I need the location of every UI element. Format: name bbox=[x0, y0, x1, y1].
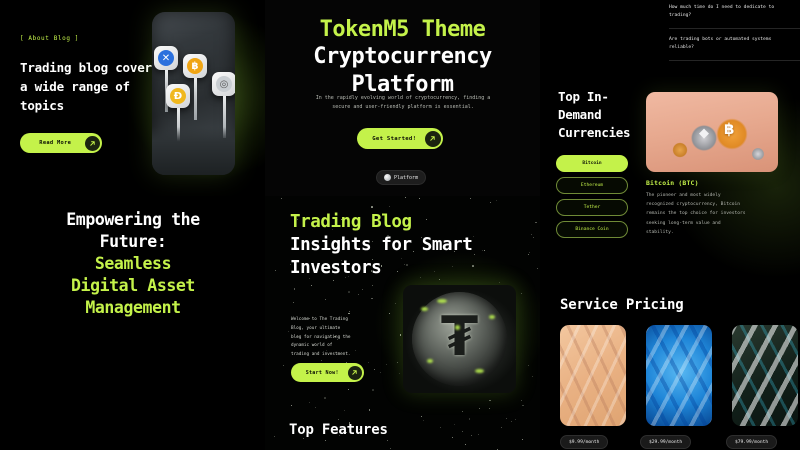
hero-get-started-label: Get Started! bbox=[364, 136, 425, 142]
hero-main-title: Cryptocurrency Platform bbox=[265, 43, 540, 99]
service-pricing-section: Service Pricing $9.99/month $29.99/month… bbox=[540, 285, 800, 450]
trading-blog-heading-line2: Investors bbox=[290, 257, 520, 280]
pricing-card-image[interactable] bbox=[732, 325, 798, 426]
crypto-phone-illustration: ✕ ฿ Ð ◎ bbox=[152, 12, 235, 175]
faq-item[interactable]: Are trading bots or automated systems re… bbox=[669, 36, 800, 61]
pricing-tag[interactable]: $79.99/month bbox=[726, 435, 777, 449]
token-marker-bitcoin: ฿ bbox=[183, 54, 207, 78]
empowering-heading-accent-3: Management bbox=[18, 297, 248, 319]
top-currencies-heading-line3: Currencies bbox=[558, 124, 638, 142]
hero-theme-title: TokenM5 Theme bbox=[265, 17, 540, 42]
token-marker-xrp: ✕ bbox=[154, 46, 178, 70]
top-features-heading: Top Features bbox=[289, 422, 388, 438]
faq-item[interactable]: How much time do I need to dedicate to t… bbox=[669, 4, 800, 29]
top-currencies-heading: Top In- Demand Currencies bbox=[558, 88, 638, 142]
faq-question: How much time do I need to dedicate to t… bbox=[669, 4, 779, 21]
empowering-heading-accent-2: Digital Asset bbox=[18, 275, 248, 297]
empowering-heading-white-2: Future: bbox=[18, 231, 248, 253]
trading-blog-heading-accent: Trading Blog bbox=[290, 211, 520, 234]
about-read-more-label: Read More bbox=[26, 140, 85, 146]
arrow-up-right-icon bbox=[425, 131, 441, 147]
empowering-heading-white-1: Empowering the bbox=[18, 209, 248, 231]
hero-platform-chip-label: Platform bbox=[394, 175, 418, 181]
empowering-heading: Empowering the Future: Seamless Digital … bbox=[18, 209, 248, 319]
top-currencies-heading-line1: Top In- bbox=[558, 88, 638, 106]
trading-blog-paragraph: Welcome to The Trading Blog, your ultima… bbox=[291, 316, 353, 360]
pricing-tag[interactable]: $29.99/month bbox=[640, 435, 691, 449]
about-blog-section: [ About Blog ] Trading blog covers a wid… bbox=[0, 0, 265, 196]
pricing-tag[interactable]: $9.99/month bbox=[560, 435, 608, 449]
tether-icon: ₮ bbox=[441, 310, 479, 364]
currency-detail-description: The pioneer and most widely recognized c… bbox=[646, 191, 746, 237]
empowering-section: Empowering the Future: Seamless Digital … bbox=[0, 196, 265, 450]
currency-detail-name: Bitcoin (BTC) bbox=[646, 179, 699, 187]
hero-platform-chip[interactable]: Platform bbox=[376, 170, 426, 185]
faq-section: How much time do I need to dedicate to t… bbox=[540, 0, 800, 77]
trading-blog-heading: Trading Blog Insights for Smart Investor… bbox=[290, 211, 520, 280]
currency-detail-image: ◆ ฿ bbox=[646, 92, 778, 172]
arrow-up-right-icon bbox=[348, 366, 362, 380]
hero-main-title-line1: Cryptocurrency bbox=[265, 43, 540, 71]
landing-page-preview: [ About Blog ] Trading blog covers a wid… bbox=[0, 0, 800, 450]
about-blog-tag: [ About Blog ] bbox=[20, 35, 79, 42]
trading-blog-coin-image: ₮ bbox=[403, 285, 516, 393]
pricing-card-image[interactable] bbox=[646, 325, 712, 426]
token-marker-dogecoin: Ð bbox=[166, 84, 190, 108]
bitcoin-icon: ฿ bbox=[724, 122, 740, 138]
about-blog-heading: Trading blog covers a wide range of topi… bbox=[20, 58, 165, 115]
trading-blog-start-now-label: Start Now! bbox=[297, 370, 348, 376]
top-currencies-heading-line2: Demand bbox=[558, 106, 638, 124]
currency-tab-bitcoin[interactable]: Bitcoin bbox=[556, 155, 628, 172]
hero-get-started-button[interactable]: Get Started! bbox=[357, 128, 443, 149]
coin-icon bbox=[384, 174, 391, 181]
top-currencies-section: Top In- Demand Currencies Bitcoin Ethere… bbox=[540, 77, 800, 285]
token-marker-coin: ◎ bbox=[212, 72, 235, 96]
arrow-up-right-icon bbox=[85, 136, 100, 151]
hero-section: TokenM5 Theme Cryptocurrency Platform In… bbox=[265, 0, 540, 196]
pricing-card-image[interactable] bbox=[560, 325, 626, 426]
hero-paragraph: In the rapidly evolving world of cryptoc… bbox=[312, 94, 494, 113]
currency-tab-ethereum[interactable]: Ethereum bbox=[556, 177, 628, 194]
faq-question: Are trading bots or automated systems re… bbox=[669, 36, 779, 53]
trading-blog-heading-line1: Insights for Smart bbox=[290, 234, 520, 257]
currency-tab-tether[interactable]: Tether bbox=[556, 199, 628, 216]
about-read-more-button[interactable]: Read More bbox=[20, 133, 102, 153]
currency-tab-binance-coin[interactable]: Binance Coin bbox=[556, 221, 628, 238]
empowering-heading-accent-1: Seamless bbox=[18, 253, 248, 275]
trading-blog-start-now-button[interactable]: Start Now! bbox=[291, 363, 364, 382]
service-pricing-heading: Service Pricing bbox=[560, 297, 683, 313]
ethereum-icon: ◆ bbox=[699, 127, 711, 139]
